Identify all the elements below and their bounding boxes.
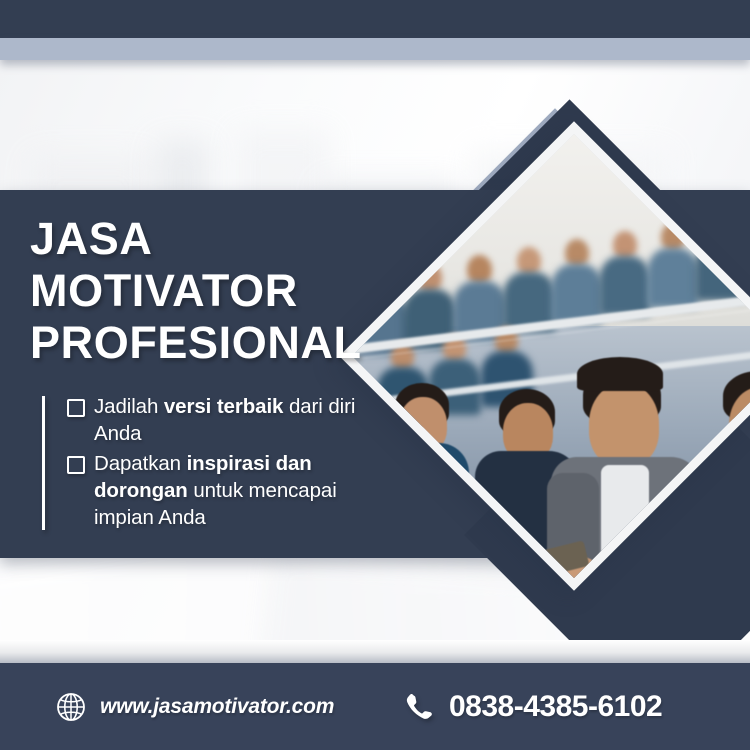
promo-banner: JASA MOTIVATOR PROFESIONAL Jadilah versi… (0, 0, 750, 750)
headline-line-3: PROFESIONAL (30, 317, 362, 369)
list-item: Dapatkan inspirasi dan dorongan untuk me… (67, 450, 367, 531)
list-item-text: Dapatkan inspirasi dan dorongan untuk me… (94, 450, 367, 531)
headline-line-1: JASA (30, 213, 362, 265)
headline-line-2: MOTIVATOR (30, 265, 362, 317)
bottom-grey-strip (0, 640, 750, 663)
phone-number: 0838-4385-6102 (449, 690, 662, 724)
benefits-list: Jadilah versi terbaik dari diri Anda Dap… (67, 393, 367, 534)
list-item: Jadilah versi terbaik dari diri Anda (67, 393, 367, 447)
contact-footer: www.jasamotivator.com 0838-4385-6102 (0, 663, 750, 750)
top-navy-band (0, 0, 750, 38)
accent-rule (42, 396, 45, 530)
website-url: www.jasamotivator.com (100, 695, 334, 719)
website-contact[interactable]: www.jasamotivator.com (56, 692, 334, 722)
checkbox-icon (67, 399, 85, 417)
checkbox-icon (67, 456, 85, 474)
globe-icon (56, 692, 86, 722)
page-title: JASA MOTIVATOR PROFESIONAL (30, 213, 362, 369)
list-item-text: Jadilah versi terbaik dari diri Anda (94, 393, 367, 447)
phone-contact[interactable]: 0838-4385-6102 (404, 690, 662, 724)
top-light-band (0, 38, 750, 60)
phone-icon (404, 691, 436, 723)
